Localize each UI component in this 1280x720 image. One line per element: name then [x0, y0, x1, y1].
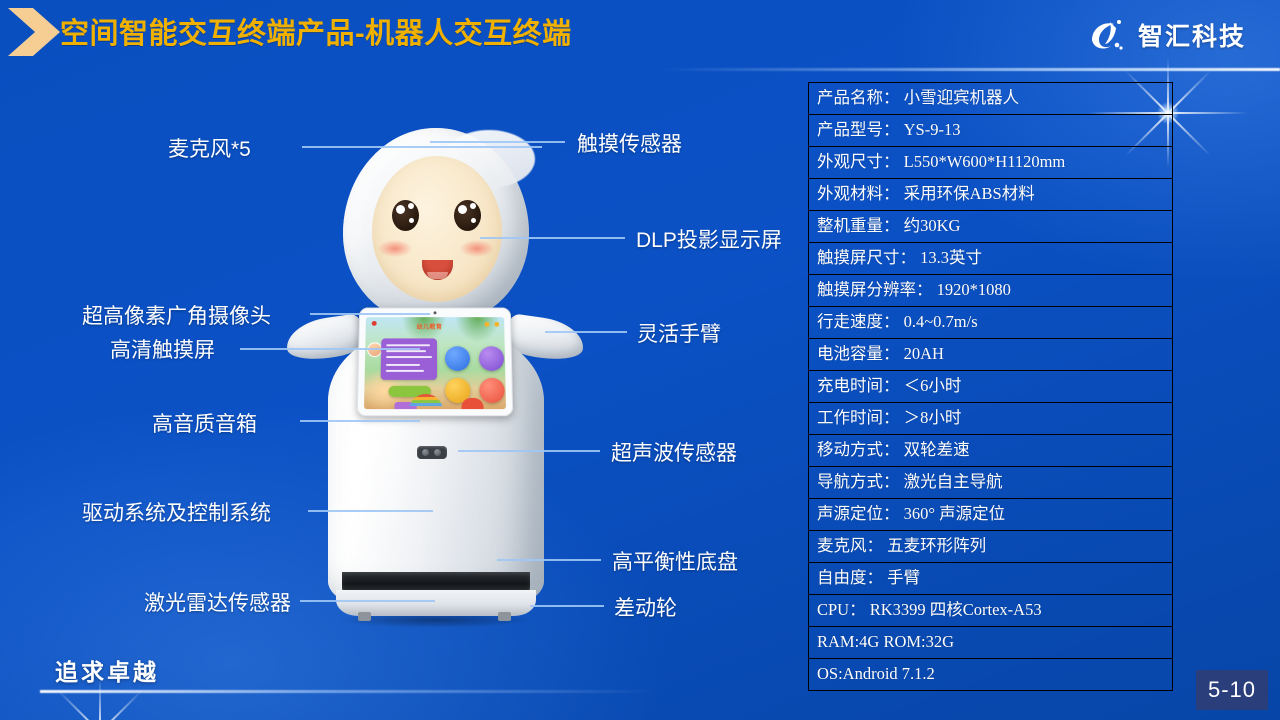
spec-cell: 整机重量： 约30KG [809, 211, 1173, 243]
spec-cell: 声源定位： 360° 声源定位 [809, 499, 1173, 531]
leader-line-drive-control [308, 510, 433, 512]
table-row: 声源定位： 360° 声源定位 [809, 499, 1173, 531]
table-row: 自由度： 手臂 [809, 563, 1173, 595]
slide-header: 空间智能交互终端产品-机器人交互终端 智汇科技 [0, 0, 1280, 64]
bottom-light-streak [40, 690, 660, 693]
callout-drive-control: 驱动系统及控制系统 [82, 497, 271, 527]
table-row: 行走速度： 0.4~0.7m/s [809, 307, 1173, 339]
mushroom-decoration [461, 398, 483, 409]
spec-cell: 触摸屏分辨率： 1920*1080 [809, 275, 1173, 307]
spec-cell: RAM:4G ROM:32G [809, 627, 1173, 659]
app-button-interaction[interactable] [479, 378, 505, 403]
table-row: 外观尺寸： L550*W600*H1120mm [809, 147, 1173, 179]
spec-cell: 产品名称： 小雪迎宾机器人 [809, 83, 1173, 115]
spec-cell: 产品型号： YS-9-13 [809, 115, 1173, 147]
leader-line-balance-chassis [497, 559, 601, 561]
star-dot-icon [484, 322, 489, 327]
table-row: 工作时间： ＞8小时 [809, 403, 1173, 435]
robot-tablet-screen[interactable]: 幼儿教育 [357, 308, 514, 417]
table-row: CPU： RK3399 四核Cortex-A53 [809, 595, 1173, 627]
robot-blush-left [378, 240, 412, 257]
callout-touch-sensor: 触摸传感器 [577, 128, 682, 158]
table-row: 电池容量： 20AH [809, 339, 1173, 371]
tablet-camera-icon [434, 311, 437, 314]
vine-decoration-right [455, 317, 501, 342]
callout-camera: 超高像素广角摄像头 [82, 300, 271, 330]
table-row: 充电时间： ＜6小时 [809, 371, 1173, 403]
table-row: 移动方式： 双轮差速 [809, 435, 1173, 467]
header-divider-line [660, 68, 1280, 71]
spec-cell: 外观材料： 采用环保ABS材料 [809, 179, 1173, 211]
leader-line-touch-sensor [430, 141, 565, 143]
table-row: 整机重量： 约30KG [809, 211, 1173, 243]
robot-face [372, 156, 502, 302]
leader-line-touchscreen [240, 348, 420, 350]
spec-cell: CPU： RK3399 四核Cortex-A53 [809, 595, 1173, 627]
app-button-songs[interactable] [445, 346, 470, 371]
spec-table-body: 产品名称： 小雪迎宾机器人产品型号： YS-9-13外观尺寸： L550*W60… [809, 83, 1173, 691]
callout-microphone: 麦克风*5 [168, 133, 251, 163]
leader-line-camera [310, 313, 430, 315]
table-row: RAM:4G ROM:32G [809, 627, 1173, 659]
leader-line-flexible-arm [545, 331, 627, 333]
differential-wheel-right [498, 612, 511, 621]
chevron-right-icon [8, 8, 60, 56]
table-row: 产品名称： 小雪迎宾机器人 [809, 83, 1173, 115]
spec-cell: 触摸屏尺寸： 13.3英寸 [809, 243, 1173, 275]
tablet-display: 幼儿教育 [364, 317, 506, 409]
table-row: 外观材料： 采用环保ABS材料 [809, 179, 1173, 211]
record-dot-icon [372, 321, 377, 326]
robot-eye-right [454, 200, 481, 231]
app-button-literacy[interactable] [479, 346, 504, 371]
robot-eye-left [392, 200, 419, 231]
app-title: 幼儿教育 [417, 322, 443, 331]
dialog-bubble [381, 338, 437, 379]
brand-logo: 智汇科技 [1086, 14, 1246, 56]
spec-cell: 电池容量： 20AH [809, 339, 1173, 371]
leader-line-microphone [302, 146, 542, 148]
table-row: 导航方式： 激光自主导航 [809, 467, 1173, 499]
leader-line-ultrasonic [458, 450, 600, 452]
robot-mouth [422, 260, 453, 280]
leader-line-dlp-projector [480, 237, 625, 239]
callout-speaker: 高音质音箱 [152, 408, 257, 438]
brand-swoosh-icon [1086, 16, 1130, 54]
welcome-robot-illustration: 幼儿教育 [280, 120, 590, 640]
spec-cell: 自由度： 手臂 [809, 563, 1173, 595]
table-row: 产品型号： YS-9-13 [809, 115, 1173, 147]
leader-line-lidar [300, 600, 435, 602]
spec-cell: 麦克风： 五麦环形阵列 [809, 531, 1173, 563]
spec-cell: OS:Android 7.1.2 [809, 659, 1173, 691]
table-row: 触摸屏分辨率： 1920*1080 [809, 275, 1173, 307]
brand-name: 智汇科技 [1138, 17, 1246, 53]
callout-lidar: 激光雷达传感器 [144, 587, 291, 617]
callout-balance-chassis: 高平衡性底盘 [612, 546, 738, 576]
differential-wheel-left [358, 612, 371, 621]
spec-cell: 行走速度： 0.4~0.7m/s [809, 307, 1173, 339]
table-row: OS:Android 7.1.2 [809, 659, 1173, 691]
ultrasonic-sensor-icon [417, 446, 447, 459]
callout-dlp-projector: DLP投影显示屏 [636, 224, 782, 254]
callout-touchscreen: 高清触摸屏 [110, 334, 215, 364]
page-title: 空间智能交互终端产品-机器人交互终端 [60, 10, 572, 52]
table-row: 麦克风： 五麦环形阵列 [809, 531, 1173, 563]
spec-cell: 移动方式： 双轮差速 [809, 435, 1173, 467]
leader-line-speaker [300, 420, 420, 422]
callout-differential-wheel: 差动轮 [614, 592, 677, 622]
leader-line-differential-wheel [530, 605, 604, 607]
spec-cell: 充电时间： ＜6小时 [809, 371, 1173, 403]
robot-blush-right [460, 240, 494, 257]
callout-flexible-arm: 灵活手臂 [637, 318, 721, 348]
spec-cell: 导航方式： 激光自主导航 [809, 467, 1173, 499]
spec-cell: 工作时间： ＞8小时 [809, 403, 1173, 435]
table-row: 触摸屏尺寸： 13.3英寸 [809, 243, 1173, 275]
spec-cell: 外观尺寸： L550*W600*H1120mm [809, 147, 1173, 179]
product-spec-table: 产品名称： 小雪迎宾机器人产品型号： YS-9-13外观尺寸： L550*W60… [808, 82, 1173, 691]
tagline: 追求卓越 [55, 653, 159, 687]
page-number-badge: 5-10 [1196, 670, 1268, 710]
star-dot-icon [494, 322, 499, 327]
slide-canvas: 空间智能交互终端产品-机器人交互终端 智汇科技 [0, 0, 1280, 720]
callout-ultrasonic: 超声波传感器 [611, 437, 737, 467]
